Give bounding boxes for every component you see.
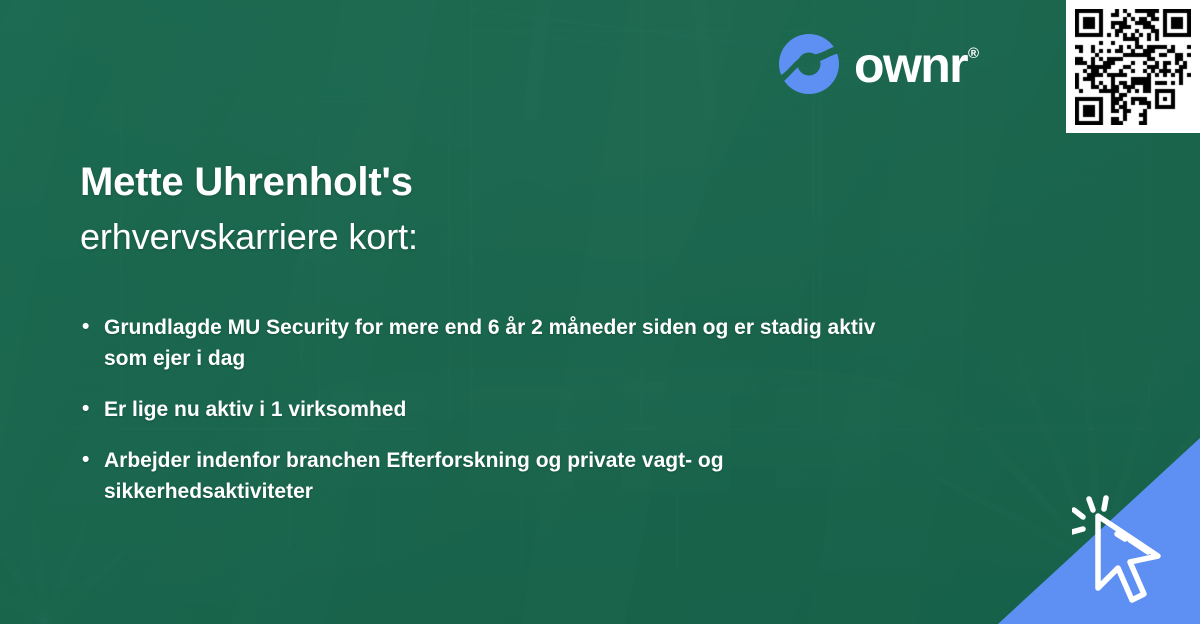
list-item: Er lige nu aktiv i 1 virksomhed [82,394,882,425]
page-title: Mette Uhrenholt's erhvervskarriere kort: [80,158,418,259]
list-item: Grundlagde MU Security for mere end 6 år… [82,312,882,374]
ownr-circle-swoosh-icon [778,33,840,95]
page-title-line2: erhvervskarriere kort: [80,215,418,259]
click-cursor-icon [1072,494,1182,612]
career-summary-card: Mette Uhrenholt's erhvervskarriere kort:… [0,0,1200,624]
ownr-wordmark-text: ownr [854,37,967,93]
career-facts-list: Grundlagde MU Security for mere end 6 år… [82,312,882,527]
qr-code-panel[interactable] [1066,0,1200,133]
list-item: Arbejder indenfor branchen Efterforsknin… [82,445,882,507]
card-content: Mette Uhrenholt's erhvervskarriere kort:… [0,0,1200,624]
page-title-line1: Mette Uhrenholt's [80,158,418,207]
ownr-logo[interactable]: ownr® [778,32,978,96]
registered-trademark-symbol: ® [968,45,979,62]
qr-code[interactable] [1075,9,1191,125]
ownr-wordmark: ownr® [854,40,978,90]
